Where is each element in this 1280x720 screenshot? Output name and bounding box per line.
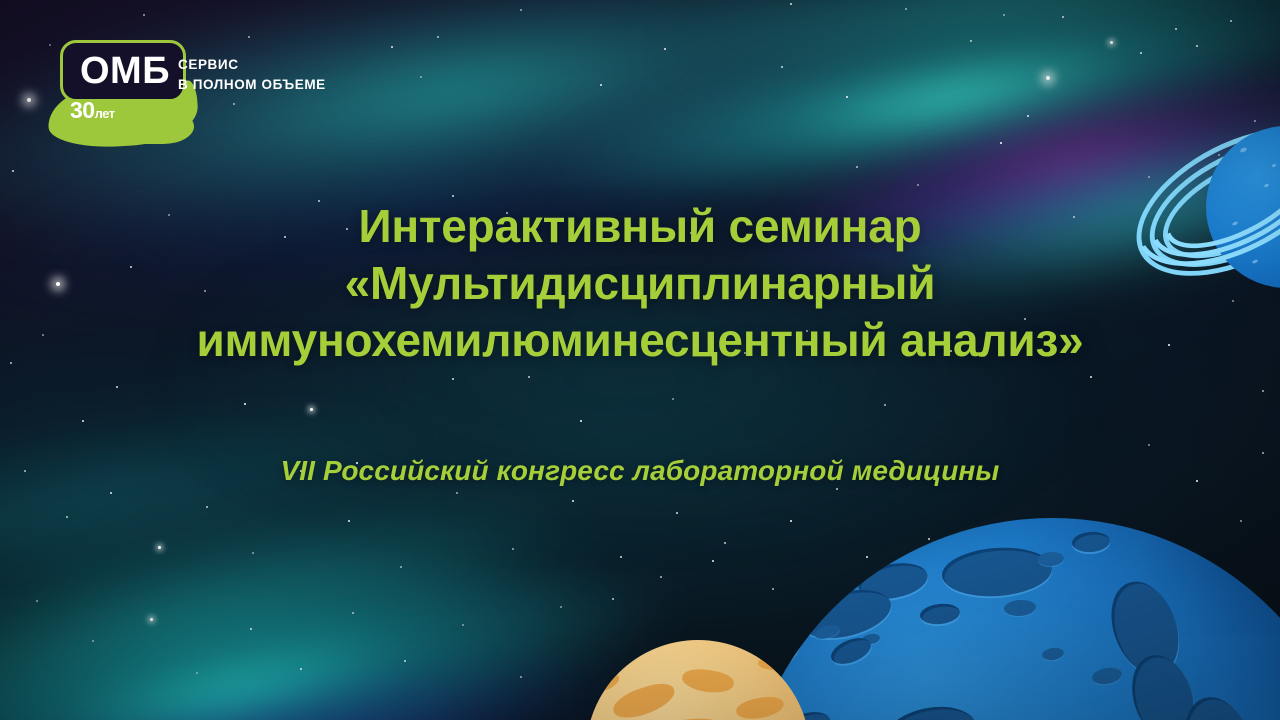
- logo-anniversary-unit: лет: [95, 106, 115, 121]
- star: [1062, 16, 1064, 18]
- planet-crater: [1003, 599, 1036, 617]
- star: [1003, 14, 1005, 16]
- star: [676, 512, 678, 514]
- star: [520, 676, 522, 678]
- star: [456, 492, 458, 494]
- title-line-3: иммунохемилюминесцентный анализ»: [0, 312, 1280, 369]
- star: [1148, 444, 1150, 446]
- star: [437, 36, 439, 38]
- planet-swirl: [735, 695, 785, 720]
- star: [82, 420, 84, 422]
- star: [1110, 41, 1113, 44]
- star: [846, 96, 848, 98]
- star: [391, 46, 393, 48]
- star: [1196, 45, 1198, 47]
- star: [300, 668, 302, 670]
- star: [520, 9, 522, 11]
- star: [452, 195, 454, 197]
- planet-swirl: [647, 716, 718, 720]
- star: [664, 48, 666, 50]
- title-line-2: «Мультидисциплинарный: [0, 255, 1280, 312]
- star: [528, 376, 530, 378]
- star: [724, 542, 726, 544]
- planet-crater: [940, 544, 1053, 600]
- star: [1027, 115, 1029, 117]
- star: [620, 556, 622, 558]
- planet-swirl: [680, 666, 735, 697]
- star: [1262, 452, 1264, 454]
- star: [27, 98, 31, 102]
- star: [452, 378, 454, 380]
- slide-title: Интерактивный семинар «Мультидисциплинар…: [0, 198, 1280, 369]
- star: [836, 488, 838, 490]
- star: [252, 552, 254, 554]
- star: [143, 14, 145, 16]
- star: [348, 520, 350, 522]
- planet-crater: [919, 602, 961, 626]
- star: [244, 403, 246, 405]
- star: [856, 166, 858, 168]
- star: [970, 40, 972, 42]
- planet-crater: [1038, 551, 1065, 567]
- star: [884, 404, 886, 406]
- star: [310, 408, 313, 411]
- star: [560, 606, 562, 608]
- star: [116, 386, 118, 388]
- star: [1230, 20, 1232, 22]
- presentation-slide: ОМБ 30лет СЕРВИС В ПОЛНОМ ОБЪЕМЕ Интерак…: [0, 0, 1280, 720]
- logo-anniversary-number: 30: [70, 97, 95, 123]
- logo-anniversary: 30лет: [70, 97, 190, 124]
- star: [206, 506, 208, 508]
- star: [36, 600, 38, 602]
- star: [420, 76, 422, 78]
- star: [905, 8, 907, 10]
- star: [110, 492, 112, 494]
- star: [158, 546, 161, 549]
- star: [352, 612, 354, 614]
- planet-surface-speck: [1239, 147, 1247, 154]
- star: [400, 566, 402, 568]
- star: [790, 3, 792, 5]
- star: [572, 500, 574, 502]
- star: [66, 516, 68, 518]
- star: [1262, 390, 1264, 392]
- planet-crater: [1091, 666, 1123, 687]
- star: [672, 398, 674, 400]
- star: [781, 66, 783, 68]
- star: [250, 628, 252, 630]
- star: [660, 576, 662, 578]
- star: [600, 84, 602, 86]
- planet-swirl: [610, 679, 679, 720]
- logo-tagline: СЕРВИС В ПОЛНОМ ОБЪЕМЕ: [178, 55, 326, 94]
- planet-crater: [1071, 531, 1110, 554]
- star: [790, 520, 792, 522]
- star: [1000, 142, 1002, 144]
- planet-crater: [877, 699, 983, 720]
- slide-subtitle: VII Российский конгресс лабораторной мед…: [0, 455, 1280, 487]
- star: [404, 660, 406, 662]
- star: [1175, 28, 1177, 30]
- star: [248, 36, 250, 38]
- star: [712, 560, 714, 562]
- star: [1090, 376, 1092, 378]
- logo-wordmark: ОМБ: [62, 42, 188, 100]
- star: [92, 640, 94, 642]
- star: [512, 548, 514, 550]
- star: [580, 420, 582, 422]
- title-line-1: Интерактивный семинар: [0, 198, 1280, 255]
- star: [917, 184, 919, 186]
- star: [150, 618, 153, 621]
- star: [1240, 520, 1242, 522]
- star: [772, 588, 774, 590]
- star: [1046, 76, 1050, 80]
- planet-surface-speck: [1272, 163, 1277, 167]
- star: [612, 598, 614, 600]
- star: [196, 672, 198, 674]
- star: [1140, 52, 1142, 54]
- star: [928, 538, 930, 540]
- star: [12, 170, 14, 172]
- planet-crater: [1041, 647, 1064, 662]
- star: [866, 556, 868, 558]
- omb-logo[interactable]: ОМБ 30лет СЕРВИС В ПОЛНОМ ОБЪЕМЕ: [48, 40, 348, 146]
- star: [462, 624, 464, 626]
